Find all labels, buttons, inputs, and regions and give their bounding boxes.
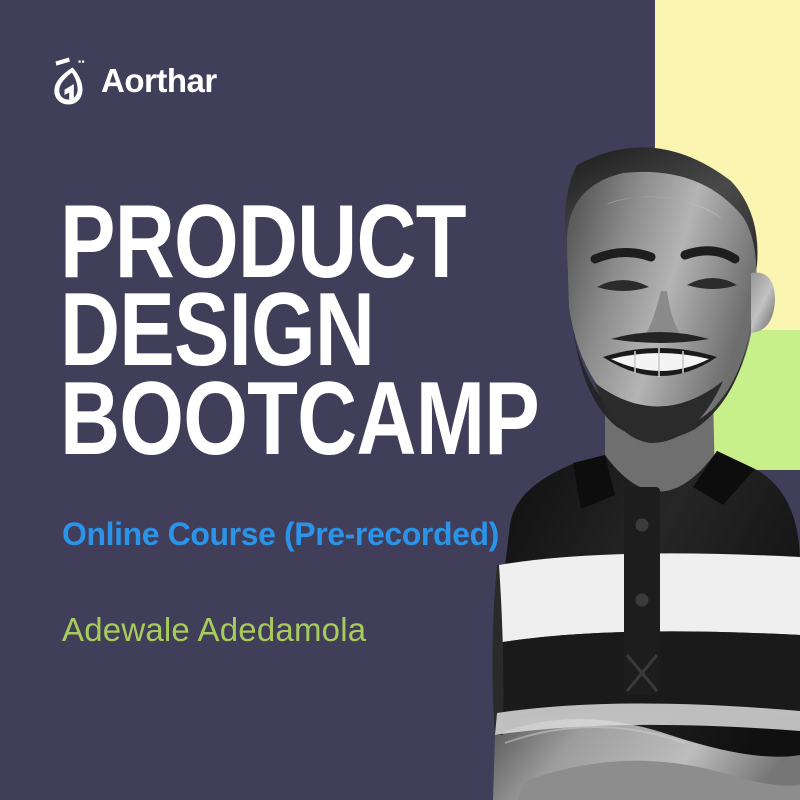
brand-logo-lockup[interactable]: Aorthar bbox=[48, 52, 217, 108]
headline-line-3: BOOTCAMP bbox=[60, 377, 428, 462]
course-promo-banner: Aorthar PRODUCT DESIGN BOOTCAMP Online C… bbox=[0, 0, 800, 800]
course-format-subtitle: Online Course (Pre-recorded) bbox=[62, 516, 499, 553]
aorthar-teardrop-logo-icon bbox=[48, 53, 90, 107]
brand-wordmark: Aorthar bbox=[101, 64, 217, 97]
presenter-name: Adewale Adedamola bbox=[62, 611, 366, 649]
headline-block: PRODUCT DESIGN BOOTCAMP bbox=[60, 200, 520, 465]
